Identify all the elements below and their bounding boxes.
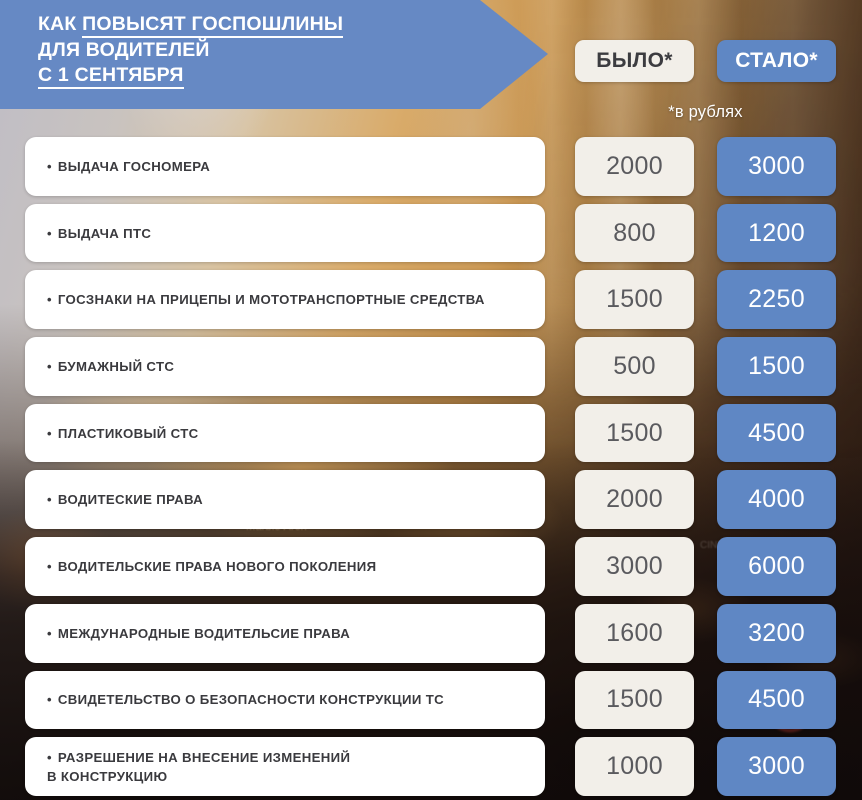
title-line-2: ДЛЯ ВОДИТЕЛЕЙ (38, 38, 548, 64)
cell-now-value: 4500 (717, 404, 836, 463)
row-label-pill: •ВОДИТЕСКИЕ ПРАВА (25, 470, 545, 529)
table-row: •ВОДИТЕЛЬСКИЕ ПРАВА НОВОГО ПОКОЛЕНИЯ3000… (0, 533, 862, 600)
row-label-value: ПЛАСТИКОВЫЙ СТС (58, 426, 199, 441)
bullet-icon: • (47, 750, 58, 765)
bullet-icon: • (47, 692, 58, 707)
cell-now-value: 3200 (717, 604, 836, 663)
table-row: •ВЫДАЧА ПТС8001200 (0, 200, 862, 267)
title-prefix: КАК (38, 13, 82, 35)
column-header-was: БЫЛО* (575, 40, 694, 82)
cell-was-value: 1500 (575, 270, 694, 329)
row-label-pill: •ПЛАСТИКОВЫЙ СТС (25, 404, 545, 463)
bullet-icon: • (47, 426, 58, 441)
cell-was-value: 1600 (575, 604, 694, 663)
cell-was-value: 2000 (575, 470, 694, 529)
cell-now-value: 3000 (717, 737, 836, 796)
row-label-value: СВИДЕТЕЛЬСТВО О БЕЗОПАСНОСТИ КОНСТРУКЦИИ… (58, 692, 444, 707)
column-header-now: СТАЛО* (717, 40, 836, 82)
bullet-icon: • (47, 292, 58, 307)
infographic-root: Oxford Circus159 Marble Arch CINEMA КАК … (0, 0, 862, 800)
cell-was-value: 800 (575, 204, 694, 263)
row-label-text: •ВЫДАЧА ГОСНОМЕРА (47, 157, 210, 176)
bullet-icon: • (47, 626, 58, 641)
cell-now-value: 4000 (717, 470, 836, 529)
cell-now-value: 3000 (717, 137, 836, 196)
row-label-value: ГОСЗНАКИ НА ПРИЦЕПЫ И МОТОТРАНСПОРТНЫЕ С… (58, 292, 485, 307)
title-line-1: КАК ПОВЫСЯТ ГОСПОШЛИНЫ (38, 12, 548, 38)
cell-now-value: 1500 (717, 337, 836, 396)
cell-now-value: 2250 (717, 270, 836, 329)
row-label-pill: •МЕЖДУНАРОДНЫЕ ВОДИТЕЛЬСИЕ ПРАВА (25, 604, 545, 663)
cell-now-value: 4500 (717, 671, 836, 730)
row-label-value: ВЫДАЧА ГОСНОМЕРА (58, 159, 210, 174)
row-label-value: БУМАЖНЫЙ СТС (58, 359, 174, 374)
row-label-text: •СВИДЕТЕЛЬСТВО О БЕЗОПАСНОСТИ КОНСТРУКЦИ… (47, 690, 444, 709)
cell-was-value: 500 (575, 337, 694, 396)
title-banner: КАК ПОВЫСЯТ ГОСПОШЛИНЫ ДЛЯ ВОДИТЕЛЕЙ С 1… (0, 0, 548, 109)
table-row: •БУМАЖНЫЙ СТС5001500 (0, 333, 862, 400)
table-row: •ВЫДАЧА ГОСНОМЕРА20003000 (0, 133, 862, 200)
cell-was-value: 1000 (575, 737, 694, 796)
row-label-text: •ПЛАСТИКОВЫЙ СТС (47, 424, 198, 443)
title-underlined-2: С 1 СЕНТЯБРЯ (38, 64, 184, 89)
bullet-icon: • (47, 559, 58, 574)
fee-table: •ВЫДАЧА ГОСНОМЕРА20003000•ВЫДАЧА ПТС8001… (0, 133, 862, 800)
row-label-pill: •ВЫДАЧА ГОСНОМЕРА (25, 137, 545, 196)
table-row: •ВОДИТЕСКИЕ ПРАВА20004000 (0, 466, 862, 533)
row-label-pill: •ГОСЗНАКИ НА ПРИЦЕПЫ И МОТОТРАНСПОРТНЫЕ … (25, 270, 545, 329)
cell-now-value: 1200 (717, 204, 836, 263)
bullet-icon: • (47, 159, 58, 174)
units-note: *в рублях (575, 103, 836, 122)
table-row: •РАЗРЕШЕНИЕ НА ВНЕСЕНИЕ ИЗМЕНЕНИЙВ КОНСТ… (0, 733, 862, 800)
row-label-value: МЕЖДУНАРОДНЫЕ ВОДИТЕЛЬСИЕ ПРАВА (58, 626, 350, 641)
row-label-value: ВЫДАЧА ПТС (58, 226, 151, 241)
row-label-text: •ГОСЗНАКИ НА ПРИЦЕПЫ И МОТОТРАНСПОРТНЫЕ … (47, 290, 485, 309)
table-row: •СВИДЕТЕЛЬСТВО О БЕЗОПАСНОСТИ КОНСТРУКЦИ… (0, 667, 862, 734)
bullet-icon: • (47, 492, 58, 507)
row-label-value: ВОДИТЕЛЬСКИЕ ПРАВА НОВОГО ПОКОЛЕНИЯ (58, 559, 377, 574)
row-label-line-1: РАЗРЕШЕНИЕ НА ВНЕСЕНИЕ ИЗМЕНЕНИЙ (58, 750, 350, 765)
table-row: •МЕЖДУНАРОДНЫЕ ВОДИТЕЛЬСИЕ ПРАВА16003200 (0, 600, 862, 667)
row-label-pill: •СВИДЕТЕЛЬСТВО О БЕЗОПАСНОСТИ КОНСТРУКЦИ… (25, 671, 545, 730)
row-label-value: ВОДИТЕСКИЕ ПРАВА (58, 492, 203, 507)
row-label-pill: •БУМАЖНЫЙ СТС (25, 337, 545, 396)
title-line-3: С 1 СЕНТЯБРЯ (38, 63, 548, 89)
row-label-line-2: В КОНСТРУКЦИЮ (47, 769, 167, 784)
cell-was-value: 1500 (575, 404, 694, 463)
row-label-text: •ВЫДАЧА ПТС (47, 224, 151, 243)
table-row: •ПЛАСТИКОВЫЙ СТС15004500 (0, 400, 862, 467)
row-label-pill: •ВОДИТЕЛЬСКИЕ ПРАВА НОВОГО ПОКОЛЕНИЯ (25, 537, 545, 596)
cell-was-value: 1500 (575, 671, 694, 730)
row-label-pill: •ВЫДАЧА ПТС (25, 204, 545, 263)
table-row: •ГОСЗНАКИ НА ПРИЦЕПЫ И МОТОТРАНСПОРТНЫЕ … (0, 266, 862, 333)
bullet-icon: • (47, 359, 58, 374)
title-underlined-1: ПОВЫСЯТ ГОСПОШЛИНЫ (82, 13, 343, 38)
bullet-icon: • (47, 226, 58, 241)
cell-was-value: 2000 (575, 137, 694, 196)
row-label-text: •БУМАЖНЫЙ СТС (47, 357, 174, 376)
cell-was-value: 3000 (575, 537, 694, 596)
row-label-pill: •РАЗРЕШЕНИЕ НА ВНЕСЕНИЕ ИЗМЕНЕНИЙВ КОНСТ… (25, 737, 545, 796)
row-label-text: •ВОДИТЕСКИЕ ПРАВА (47, 490, 203, 509)
row-label-text: •МЕЖДУНАРОДНЫЕ ВОДИТЕЛЬСИЕ ПРАВА (47, 624, 350, 643)
row-label-text: •ВОДИТЕЛЬСКИЕ ПРАВА НОВОГО ПОКОЛЕНИЯ (47, 557, 376, 576)
row-label-text: •РАЗРЕШЕНИЕ НА ВНЕСЕНИЕ ИЗМЕНЕНИЙВ КОНСТ… (47, 748, 350, 786)
cell-now-value: 6000 (717, 537, 836, 596)
